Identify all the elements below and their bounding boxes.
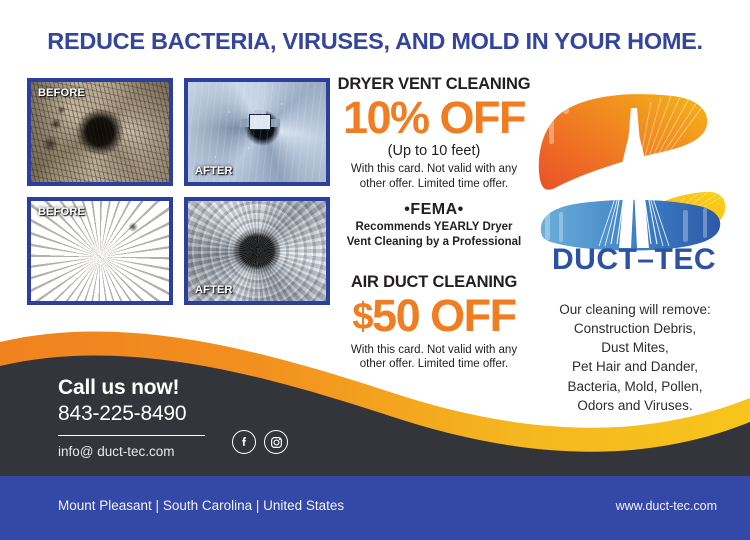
dryer-offer-title: DRYER VENT CLEANING	[332, 75, 536, 93]
photo-after-duct: AFTER	[184, 78, 330, 186]
call-us-label: Call us now!	[58, 376, 318, 400]
instagram-icon[interactable]	[264, 430, 288, 454]
fema-notice: •FEMA• Recommends YEARLY Dryer Vent Clea…	[332, 201, 536, 250]
footer-website[interactable]: www.duct-tec.com	[616, 499, 717, 513]
logo-wordmark: DUCT–TEC	[528, 243, 740, 277]
dryer-offer-subtitle: (Up to 10 feet)	[332, 143, 536, 159]
airduct-offer-title: AIR DUCT CLEANING	[332, 273, 536, 291]
removal-list-heading: Our cleaning will remove:	[528, 300, 742, 319]
flyer-canvas: REDUCE BACTERIA, VIRUSES, AND MOLD IN YO…	[0, 0, 750, 540]
photo-before-vent: BEFORE	[27, 197, 173, 305]
dryer-offer-fineprint: With this card. Not valid with any other…	[332, 162, 536, 191]
photo-caption-after: AFTER	[195, 165, 233, 177]
photo-before-duct: BEFORE	[27, 78, 173, 186]
before-after-photo-grid: BEFORE AFTER BEFORE AFTER	[27, 78, 330, 305]
fema-line-2: Vent Cleaning by a Professional	[332, 235, 536, 250]
photo-caption-before: BEFORE	[38, 87, 85, 99]
dryer-offer-amount: 10% OFF	[332, 94, 536, 141]
dryer-fineprint-line-2: other offer. Limited time offer.	[332, 177, 536, 192]
footer-location: Mount Pleasant | South Carolina | United…	[58, 498, 344, 513]
fema-badge: •FEMA•	[332, 201, 536, 219]
fema-line-1: Recommends YEARLY Dryer	[332, 220, 536, 235]
fema-text: Recommends YEARLY Dryer Vent Cleaning by…	[332, 220, 536, 250]
duct-damper-icon	[249, 114, 271, 130]
facebook-icon[interactable]	[232, 430, 256, 454]
contact-divider	[58, 435, 205, 436]
page-title: REDUCE BACTERIA, VIRUSES, AND MOLD IN YO…	[0, 28, 750, 55]
social-links	[232, 430, 288, 454]
photo-after-vent: AFTER	[184, 197, 330, 305]
dryer-vent-offer: DRYER VENT CLEANING 10% OFF (Up to 10 fe…	[332, 75, 536, 192]
phone-number[interactable]: 843-225-8490	[58, 402, 318, 426]
photo-caption-before: BEFORE	[38, 206, 85, 218]
photo-caption-after: AFTER	[195, 284, 233, 296]
dryer-fineprint-line-1: With this card. Not valid with any	[332, 162, 536, 177]
footer-bar: Mount Pleasant | South Carolina | United…	[0, 476, 750, 540]
